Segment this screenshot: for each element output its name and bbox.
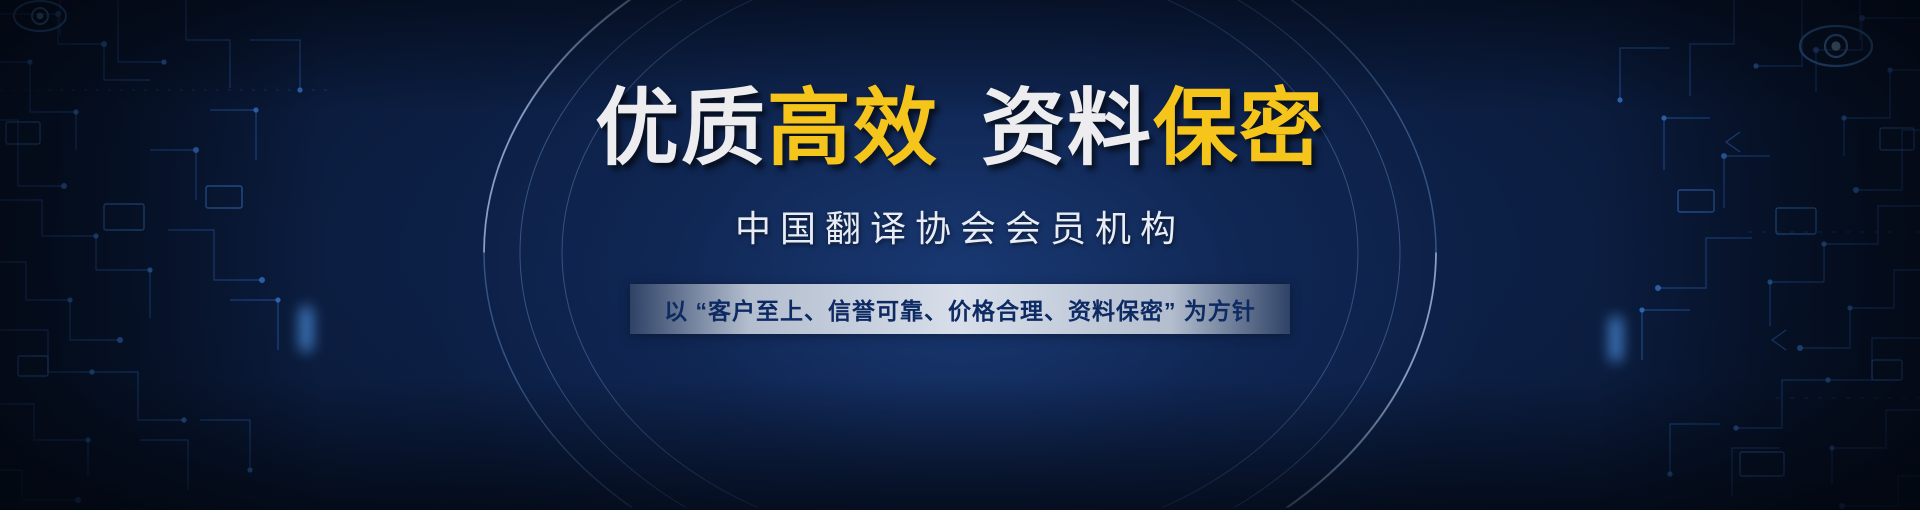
tagline-bar: 以 “客户至上、信誉可靠、价格合理、资料保密” 为方针 xyxy=(630,284,1290,334)
headline-part-3: 资料 xyxy=(981,81,1153,175)
tagline-text: 以 “客户至上、信誉可靠、价格合理、资料保密” 为方针 xyxy=(664,292,1256,326)
subtitle: 中国翻译协会会员机构 xyxy=(735,200,1185,252)
headline-part-1: 优质 xyxy=(595,81,767,175)
headline-part-4: 保密 xyxy=(1153,81,1325,175)
headline-part-2: 高效 xyxy=(767,81,939,175)
banner-content: 优质高效资料保密 中国翻译协会会员机构 以 “客户至上、信誉可靠、价格合理、资料… xyxy=(0,0,1920,510)
banner-hero: 优质高效资料保密 中国翻译协会会员机构 以 “客户至上、信誉可靠、价格合理、资料… xyxy=(0,0,1920,510)
headline: 优质高效资料保密 xyxy=(595,86,1325,170)
